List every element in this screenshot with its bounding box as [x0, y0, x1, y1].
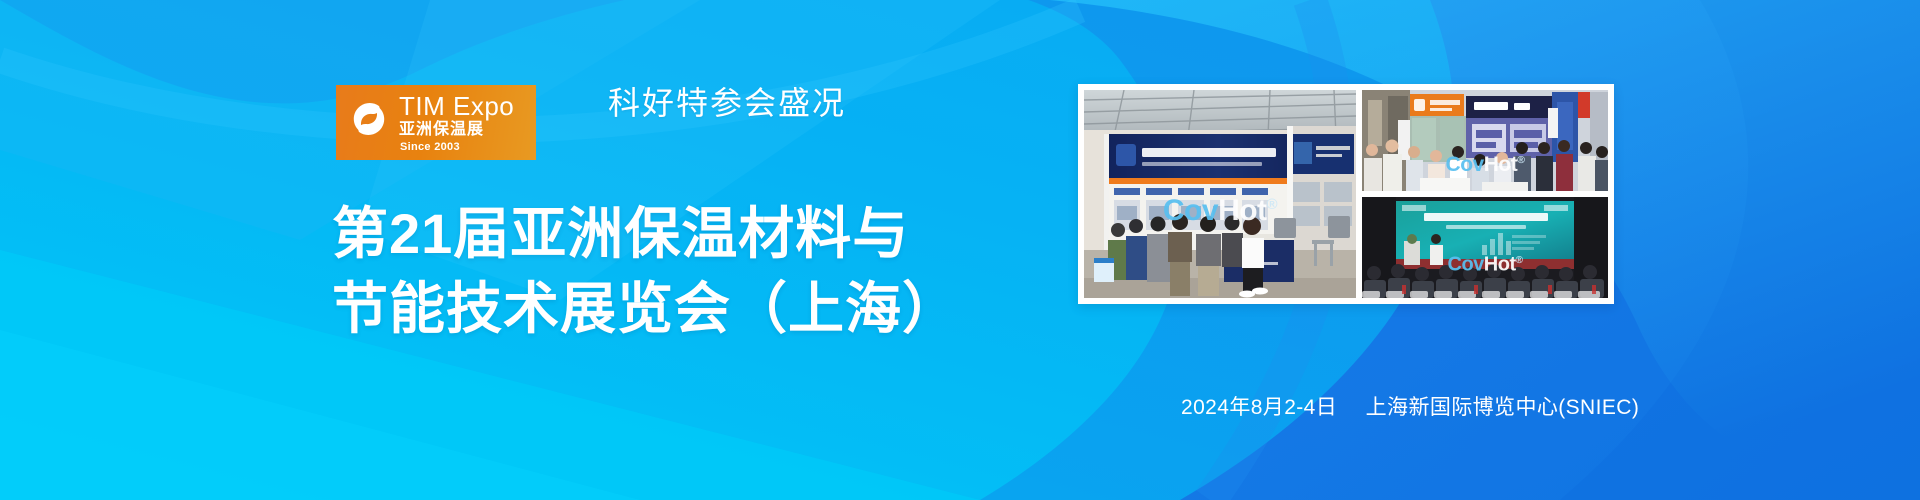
- yin-yang-swoosh-icon: [346, 96, 392, 142]
- event-date: 2024年8月2-4日: [1181, 396, 1337, 419]
- logo-name-en: TIM Expo: [399, 93, 514, 119]
- forum-photo: CovHot®: [1362, 197, 1608, 298]
- logo-since-label: Since 2003: [400, 141, 460, 153]
- banner-subtitle: 科好特参会盛况: [608, 78, 846, 124]
- event-banner: TIM Expo 亚洲保温展 Since 2003 科好特参会盛况 第21届亚洲…: [0, 0, 1920, 500]
- banner-content: TIM Expo 亚洲保温展 Since 2003 科好特参会盛况 第21届亚洲…: [0, 0, 1920, 500]
- hall-photo: CovHot®: [1362, 90, 1608, 191]
- title-line-2: 节能技术展览会（上海）: [332, 271, 959, 346]
- page-title: 第21届亚洲保温材料与 节能技术展览会（上海）: [332, 196, 959, 346]
- tim-expo-logo: TIM Expo 亚洲保温展 Since 2003: [336, 85, 536, 160]
- title-line-1: 第21届亚洲保温材料与: [332, 196, 959, 271]
- photo-collage: CovHot®: [1078, 84, 1614, 304]
- logo-name-cn: 亚洲保温展: [399, 122, 514, 138]
- event-venue: 上海新国际博览中心(SNIEC): [1366, 396, 1640, 419]
- booth-photo: CovHot®: [1084, 90, 1356, 298]
- event-dateline: 2024年8月2-4日 上海新国际博览中心(SNIEC): [1181, 391, 1639, 421]
